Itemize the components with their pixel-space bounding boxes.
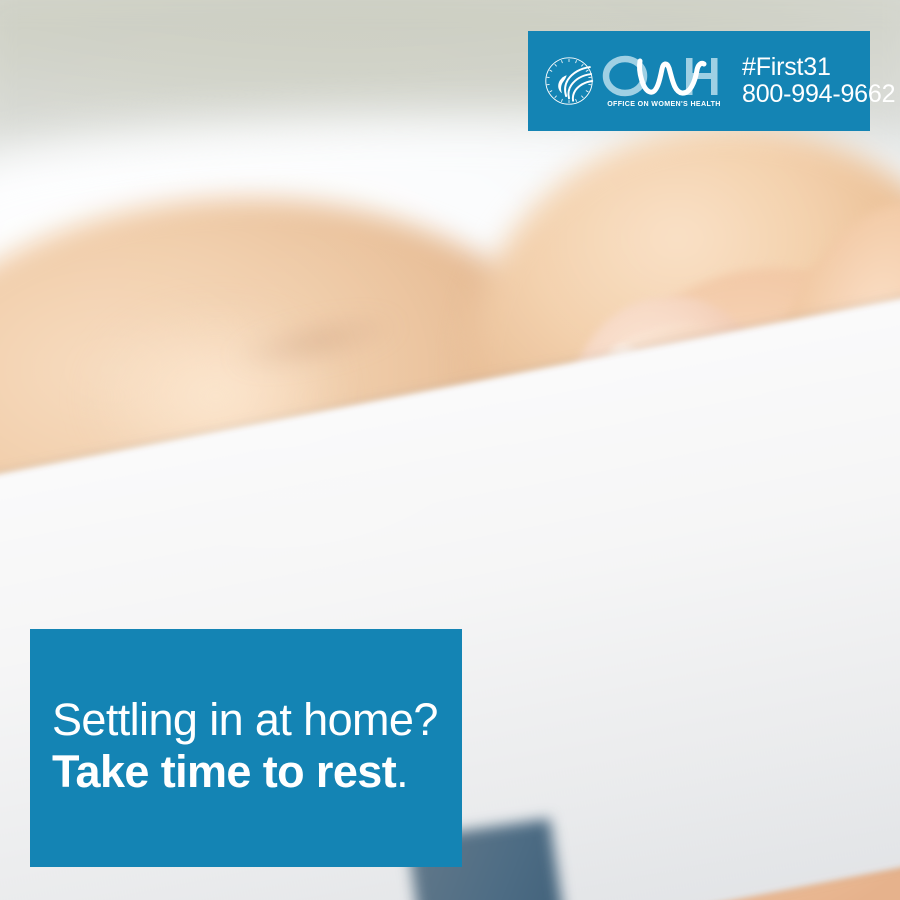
- message-callout-bold: Take time to rest: [52, 746, 396, 797]
- owh-contact-text: #First31 800-994-9662: [742, 54, 895, 108]
- social-media-card: OFFICE ON WOMEN'S HEALTH #First31 800-99…: [0, 0, 900, 900]
- message-panel: Settling in at home? Take time to rest.: [30, 629, 462, 867]
- helpline-phone-number: 800-994-9662: [742, 81, 895, 108]
- message-callout-period: .: [396, 746, 408, 797]
- hhs-seal-icon: [540, 52, 598, 110]
- owh-lettermark-icon: OFFICE ON WOMEN'S HEALTH: [600, 52, 728, 110]
- campaign-hashtag: #First31: [742, 54, 895, 81]
- message-headline-question: Settling in at home?: [52, 695, 462, 745]
- owh-logo: OFFICE ON WOMEN'S HEALTH: [540, 52, 728, 110]
- svg-text:OFFICE ON WOMEN'S HEALTH: OFFICE ON WOMEN'S HEALTH: [607, 100, 721, 108]
- owh-branding-banner: OFFICE ON WOMEN'S HEALTH #First31 800-99…: [528, 31, 870, 131]
- message-headline-callout: Take time to rest.: [52, 747, 462, 797]
